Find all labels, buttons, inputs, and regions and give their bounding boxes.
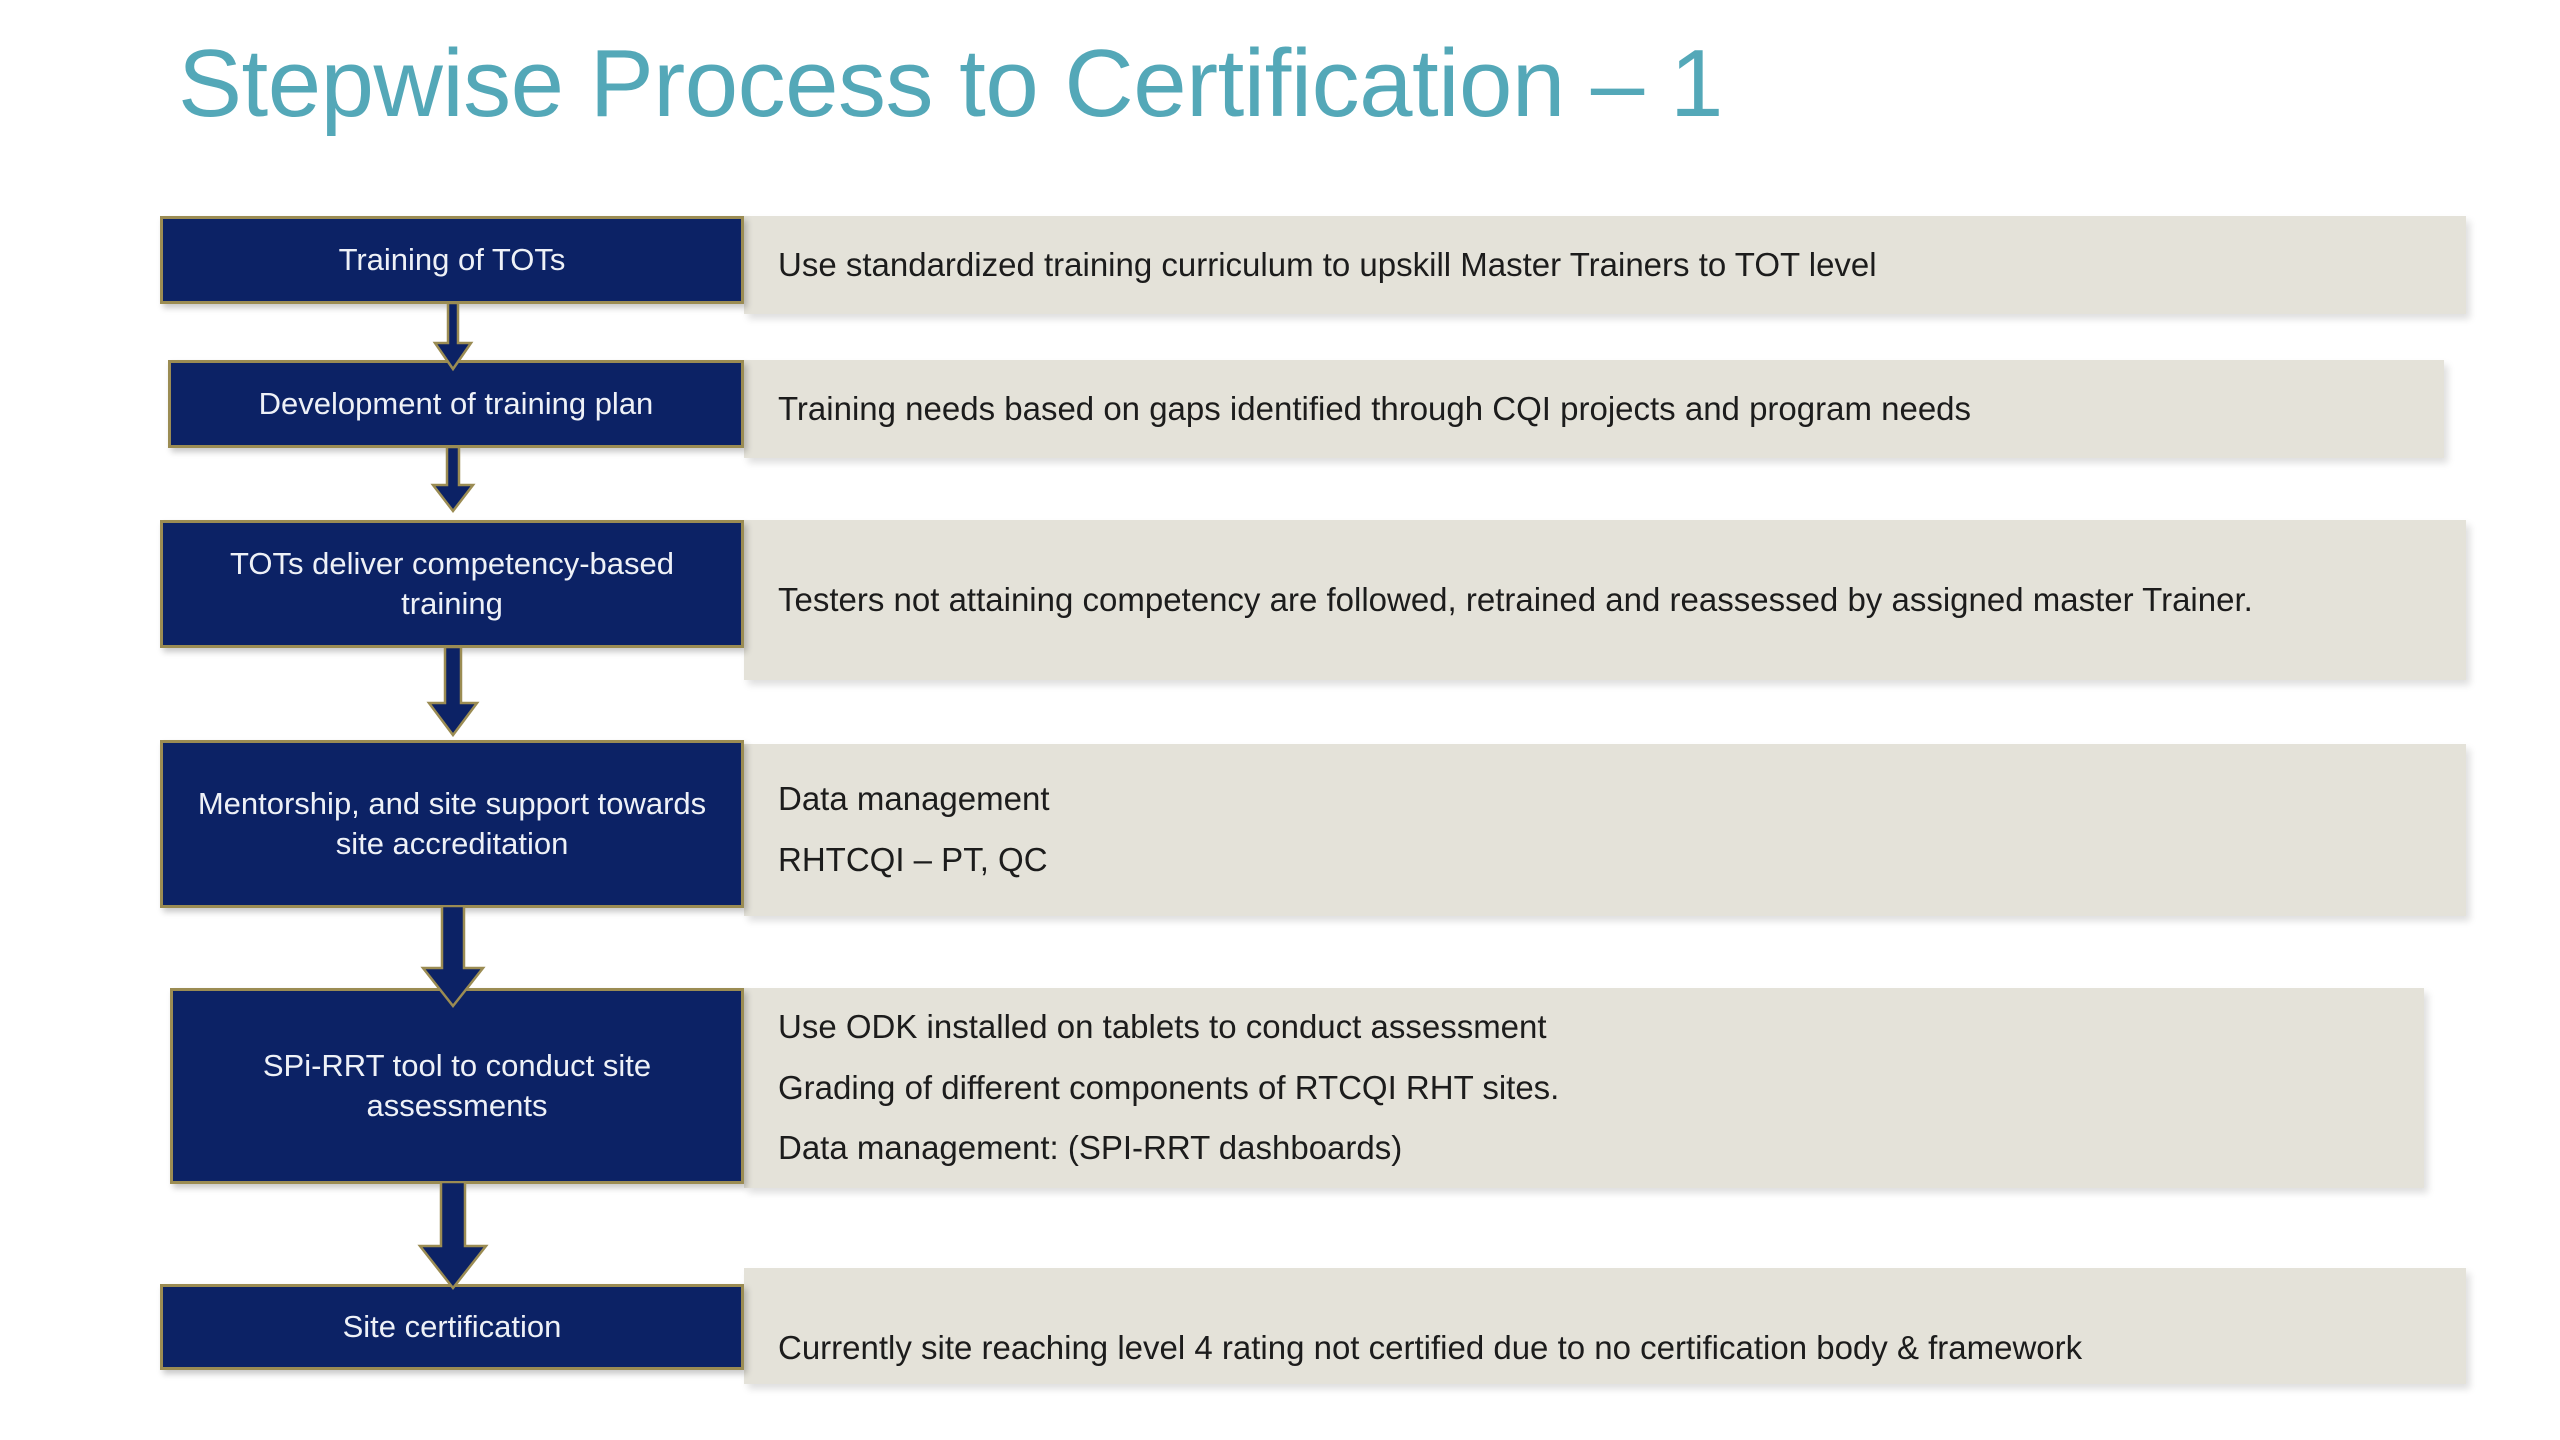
step-box-label: Mentorship, and site support towards sit… xyxy=(163,784,741,863)
description-line: Use standardized training curriculum to … xyxy=(778,244,2432,287)
step-box-site-certification[interactable]: Site certification xyxy=(160,1284,744,1370)
description-panel-3: Testers not attaining competency are fol… xyxy=(744,520,2466,680)
arrow-step3-to-step4 xyxy=(418,647,488,739)
description-panel-1: Use standardized training curriculum to … xyxy=(744,216,2466,314)
step-box-label: TOTs deliver competency-based training xyxy=(163,544,741,623)
description-panel-2: Training needs based on gaps identified … xyxy=(744,360,2444,458)
description-line: Use ODK installed on tablets to conduct … xyxy=(778,1006,2390,1049)
description-line: Data management xyxy=(778,778,2432,821)
step-box-label: Site certification xyxy=(329,1307,576,1347)
description-panel-6: Currently site reaching level 4 rating n… xyxy=(744,1268,2466,1384)
step-box-development-of-training-plan[interactable]: Development of training plan xyxy=(168,360,744,448)
description-line: Grading of different components of RTCQI… xyxy=(778,1067,2390,1110)
step-box-tots-deliver-competency-based-training[interactable]: TOTs deliver competency-based training xyxy=(160,520,744,648)
description-line: Testers not attaining competency are fol… xyxy=(778,579,2378,622)
description-line: Currently site reaching level 4 rating n… xyxy=(778,1327,2432,1370)
step-box-label: Training of TOTs xyxy=(325,240,580,280)
arrow-step2-to-step3 xyxy=(422,447,484,515)
page-title: Stepwise Process to Certification – 1 xyxy=(178,28,2418,139)
arrow-step5-to-step6 xyxy=(408,1182,498,1292)
step-box-mentorship-and-site-support[interactable]: Mentorship, and site support towards sit… xyxy=(160,740,744,908)
description-panel-4: Data management RHTCQI – PT, QC xyxy=(744,744,2466,916)
step-box-label: Development of training plan xyxy=(245,384,668,424)
arrow-step4-to-step5 xyxy=(412,906,494,1010)
slide-canvas: Stepwise Process to Certification – 1 Us… xyxy=(0,0,2560,1440)
description-line: Data management: (SPI-RRT dashboards) xyxy=(778,1127,2390,1170)
step-box-training-of-tots[interactable]: Training of TOTs xyxy=(160,216,744,304)
step-box-label: SPi-RRT tool to conduct site assessments xyxy=(173,1046,741,1125)
step-box-spi-rrt-tool[interactable]: SPi-RRT tool to conduct site assessments xyxy=(170,988,744,1184)
description-line: Training needs based on gaps identified … xyxy=(778,388,2410,431)
description-line: RHTCQI – PT, QC xyxy=(778,839,2432,882)
arrow-step1-to-step2 xyxy=(424,303,482,373)
description-panel-5: Use ODK installed on tablets to conduct … xyxy=(744,988,2424,1188)
